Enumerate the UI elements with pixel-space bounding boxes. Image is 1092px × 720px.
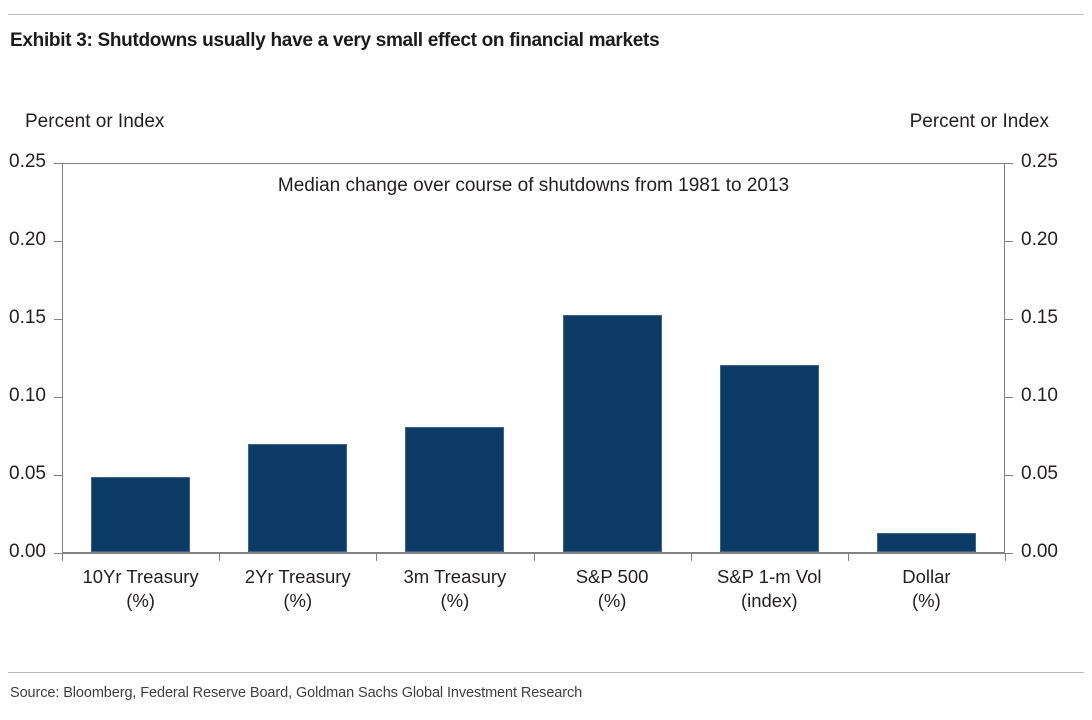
- y-tick-label: 0.20: [1021, 229, 1058, 251]
- bar: [720, 365, 819, 552]
- exhibit-page: Exhibit 3: Shutdowns usually have a very…: [0, 0, 1092, 720]
- x-axis-labels: 10Yr Treasury(%)2Yr Treasury(%)3m Treasu…: [62, 565, 1005, 625]
- y-tick-mark: [1005, 241, 1013, 242]
- x-tick-mark: [219, 553, 220, 561]
- source-note: Source: Bloomberg, Federal Reserve Board…: [10, 685, 582, 701]
- x-axis-label-line: S&P 500: [534, 565, 691, 589]
- x-axis-label-line: Dollar: [848, 565, 1005, 589]
- x-axis-label: Dollar(%): [848, 565, 1005, 613]
- y-tick-label: 0.15: [1021, 307, 1058, 329]
- x-axis-label-line: (index): [691, 589, 848, 613]
- y-tick-label: 0.25: [9, 151, 46, 173]
- y-tick-label: 0.10: [1021, 385, 1058, 407]
- x-tick-mark: [534, 553, 535, 561]
- x-axis-label: 10Yr Treasury(%): [62, 565, 219, 613]
- y-tick-mark: [54, 241, 62, 242]
- bar: [405, 427, 504, 552]
- y-tick-label: 0.00: [1021, 541, 1058, 563]
- y-tick-label: 0.00: [9, 541, 46, 563]
- y-axis-line-left: [62, 163, 63, 553]
- x-axis-label-line: 3m Treasury: [376, 565, 533, 589]
- x-tick-mark: [691, 553, 692, 561]
- x-axis-label-line: (%): [534, 589, 691, 613]
- plot-border-top: [62, 163, 1005, 164]
- top-divider: [8, 14, 1084, 15]
- x-tick-mark: [62, 553, 63, 561]
- x-axis-label: S&P 1-m Vol(index): [691, 565, 848, 613]
- bar: [877, 533, 976, 552]
- y-tick-label: 0.05: [1021, 463, 1058, 485]
- y-tick-label: 0.10: [9, 385, 46, 407]
- x-axis-label-line: 10Yr Treasury: [62, 565, 219, 589]
- x-axis-label-line: (%): [219, 589, 376, 613]
- y-tick-label: 0.15: [9, 307, 46, 329]
- y-tick-mark: [1005, 397, 1013, 398]
- y-tick-mark: [1005, 475, 1013, 476]
- chart-plot-area: Median change over course of shutdowns f…: [62, 163, 1005, 553]
- bar: [248, 444, 347, 552]
- y-tick-mark: [54, 397, 62, 398]
- x-tick-mark: [848, 553, 849, 561]
- x-axis-label: 3m Treasury(%): [376, 565, 533, 613]
- y-tick-mark: [54, 319, 62, 320]
- x-axis-label-line: (%): [848, 589, 1005, 613]
- y-tick-mark: [54, 163, 62, 164]
- x-axis-label-line: 2Yr Treasury: [219, 565, 376, 589]
- x-axis-label-line: (%): [376, 589, 533, 613]
- x-tick-mark: [1005, 553, 1006, 561]
- x-tick-mark: [376, 553, 377, 561]
- chart-annotation: Median change over course of shutdowns f…: [62, 175, 1005, 197]
- y-tick-label: 0.25: [1021, 151, 1058, 173]
- bar: [563, 315, 662, 552]
- x-axis-label: S&P 500(%): [534, 565, 691, 613]
- y-tick-label: 0.20: [9, 229, 46, 251]
- bar: [91, 477, 190, 552]
- y-tick-mark: [1005, 553, 1013, 554]
- footer-divider: [8, 672, 1084, 673]
- y-axis-caption-right: Percent or Index: [910, 111, 1049, 133]
- x-axis-label-line: S&P 1-m Vol: [691, 565, 848, 589]
- y-tick-mark: [54, 553, 62, 554]
- y-tick-label: 0.05: [9, 463, 46, 485]
- x-axis-label: 2Yr Treasury(%): [219, 565, 376, 613]
- y-tick-mark: [54, 475, 62, 476]
- y-tick-mark: [1005, 163, 1013, 164]
- y-tick-mark: [1005, 319, 1013, 320]
- y-axis-caption-left: Percent or Index: [25, 111, 164, 133]
- y-axis-line-right: [1004, 163, 1005, 553]
- x-axis-label-line: (%): [62, 589, 219, 613]
- page-title: Exhibit 3: Shutdowns usually have a very…: [10, 30, 659, 52]
